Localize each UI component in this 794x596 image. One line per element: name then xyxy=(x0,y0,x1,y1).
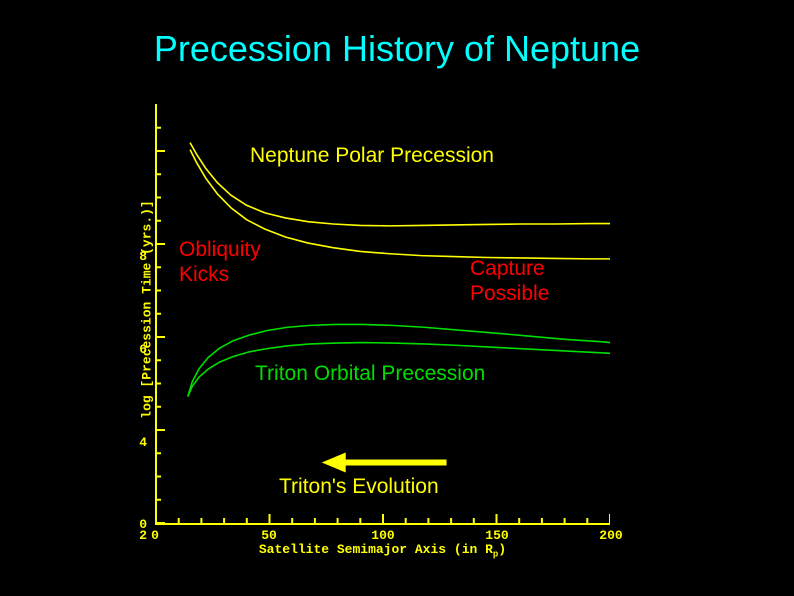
xtick-label-200: 200 xyxy=(589,528,633,543)
annotation-obliquity-line1: Obliquity xyxy=(179,237,261,262)
page-title: Precession History of Neptune xyxy=(0,28,794,70)
annotation-obliquity-kicks: Obliquity Kicks xyxy=(179,237,261,287)
ytick-label-4: 4 xyxy=(121,435,147,450)
xtick-label-150: 150 xyxy=(475,528,519,543)
x-axis-label-main: Satellite Semimajor Axis (in R xyxy=(259,542,493,557)
annotation-obliquity-line2: Kicks xyxy=(179,262,261,287)
x-axis-label: Satellite Semimajor Axis (in Rp) xyxy=(155,542,610,560)
xtick-label-0: 0 xyxy=(133,528,177,543)
y-axis-label: log [Precession Time (yrs.)] xyxy=(140,190,155,430)
xtick-label-100: 100 xyxy=(361,528,405,543)
annotation-tritons-evolution: Triton's Evolution xyxy=(279,475,439,499)
triton-evolution-arrow xyxy=(322,453,447,473)
chart-plot-area: 8 6 4 2 0 0 50 100 150 200 log [Precessi… xyxy=(155,104,610,525)
annotation-capture-line1: Capture xyxy=(470,256,549,281)
annotation-capture-possible: Capture Possible xyxy=(470,256,549,306)
xtick-label-50: 50 xyxy=(247,528,291,543)
annotation-triton-orbital-precession: Triton Orbital Precession xyxy=(255,362,485,386)
x-axis-label-tail: ) xyxy=(498,542,506,557)
slide-canvas: Precession History of Neptune 8 6 4 2 0 … xyxy=(0,0,794,596)
annotation-capture-line2: Possible xyxy=(470,281,549,306)
annotation-neptune-polar-precession: Neptune Polar Precession xyxy=(250,144,494,168)
